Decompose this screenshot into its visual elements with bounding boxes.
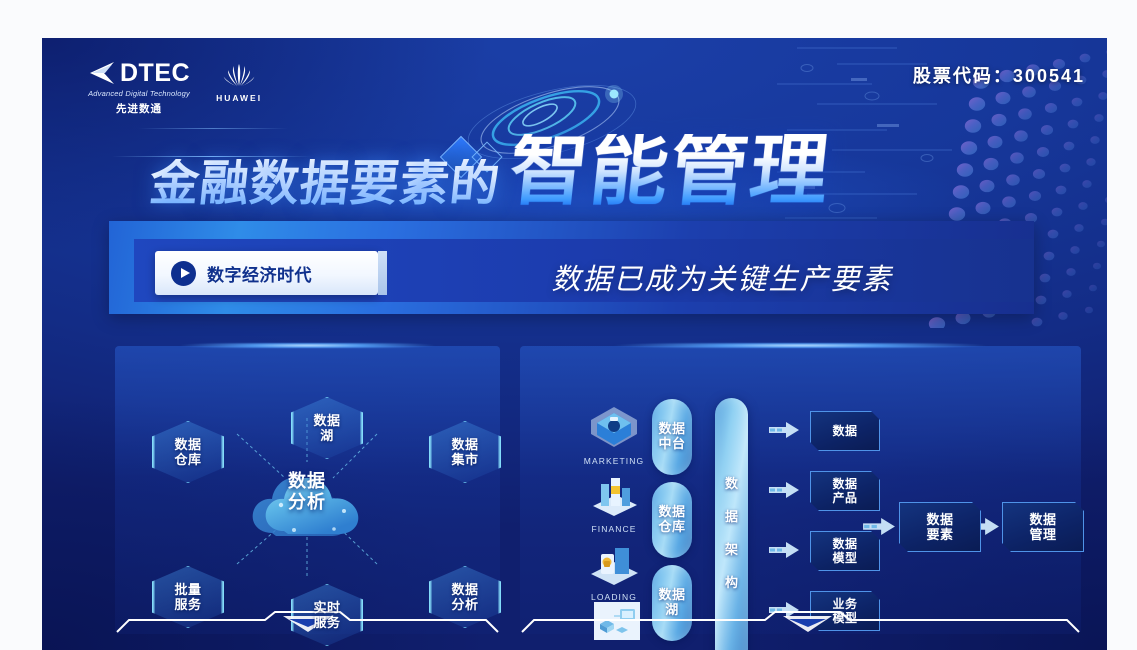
hex-label-line2: 服务: [174, 597, 201, 612]
data-management-line1: 数据: [1029, 512, 1056, 527]
hex-node-data-lake: 数据 湖: [291, 397, 363, 459]
output-box-data: 数据: [810, 411, 880, 451]
data-management-box: 数据 管理: [1002, 502, 1084, 552]
output-box-data-model: 数据模型: [810, 531, 880, 571]
title-lead: 金融数据要素的: [147, 159, 502, 208]
cloud-label: 数据 分析: [248, 471, 366, 512]
dtec-tagline: Advanced Digital Technology: [88, 89, 190, 98]
arch-char-0: 数: [725, 473, 738, 492]
hex-label-line1: 数据: [174, 437, 201, 452]
pill-line1: 数据: [658, 422, 685, 437]
data-management-line2: 管理: [1029, 527, 1056, 542]
output-line1: 数据: [832, 537, 857, 551]
source-label-marketing: MARKETING: [571, 456, 657, 466]
output-box-data-product: 数据产品: [810, 471, 880, 511]
source-label-loading: LOADING: [571, 592, 657, 602]
finance-chart-icon: [585, 472, 643, 518]
data-element-box: 数据 要素: [899, 502, 981, 552]
hex-label-line1: 数据: [313, 413, 340, 428]
dtec-wordmark: DTEC: [120, 61, 190, 86]
presentation-slide: DTEC Advanced Digital Technology 先进数通: [42, 38, 1107, 650]
dtec-chinese-name: 先进数通: [116, 101, 162, 116]
pill-line1: 数据: [658, 505, 685, 520]
panel-top-glow-right: [565, 343, 1036, 348]
dtec-logo: DTEC Advanced Digital Technology 先进数通: [88, 60, 190, 116]
cloud-label-line1: 数据: [248, 471, 366, 492]
cloud-label-line2: 分析: [248, 492, 366, 513]
hex-label-line2: 集市: [451, 452, 478, 467]
output-line2: 产品: [832, 491, 857, 505]
title-emphasis: 智能管理: [506, 134, 834, 208]
logo-group: DTEC Advanced Digital Technology 先进数通: [88, 60, 262, 116]
hex-label-line1: 数据: [451, 437, 478, 452]
arrow-to-data-product: [769, 482, 799, 498]
arrow-to-data: [769, 422, 799, 438]
output-line1: 业务: [832, 597, 857, 611]
arch-char-1: 据: [725, 506, 738, 525]
era-badge-label: 数字经济时代: [207, 261, 312, 286]
era-badge[interactable]: 数字经济时代: [155, 251, 378, 295]
pill-line1: 数据: [658, 588, 685, 603]
stock-code: 股票代码：300541: [913, 62, 1085, 88]
huawei-wordmark: HUAWEI: [216, 93, 262, 103]
output-line1: 数据: [832, 424, 857, 438]
subtitle-headline: 数据已成为关键生产要素: [442, 256, 1002, 298]
pill-line2: 中台: [658, 437, 685, 452]
platform-pill-data-warehouse: 数据 仓库: [652, 482, 692, 558]
huawei-logo: HUAWEI: [216, 62, 262, 103]
output-line2: 模型: [832, 551, 857, 565]
data-element-line2: 要素: [926, 527, 953, 542]
data-element-line1: 数据: [926, 512, 953, 527]
hex-label-line1: 数据: [451, 582, 478, 597]
right-panel-chevron: [520, 610, 1081, 636]
hex-node-data-warehouse: 数据 仓库: [152, 421, 224, 483]
dtec-arrow-icon: [88, 60, 118, 86]
huawei-flower-icon: [221, 62, 257, 90]
hex-node-data-mart: 数据 集市: [429, 421, 501, 483]
hex-label-line2: 服务: [313, 615, 340, 630]
hex-label-line2: 湖: [320, 428, 334, 443]
source-label-finance: FINANCE: [571, 524, 657, 534]
hex-label-line1: 实时: [313, 600, 340, 615]
left-panel-chevron: [115, 610, 500, 636]
hex-label-line2: 分析: [451, 597, 478, 612]
arch-char-3: 构: [725, 572, 738, 591]
decor-line-2: [138, 128, 288, 129]
loading-server-icon: [585, 540, 643, 586]
platform-pill-data-middle-platform: 数据 中台: [652, 399, 692, 475]
arrow-to-data-model: [769, 542, 799, 558]
marketing-cube-icon: [585, 404, 643, 450]
play-icon: [171, 261, 196, 286]
page-title: 金融数据要素的 智能管理: [150, 134, 830, 208]
output-line1: 数据: [832, 477, 857, 491]
slide-canvas: DTEC Advanced Digital Technology 先进数通: [0, 0, 1137, 650]
arch-char-2: 架: [725, 539, 738, 558]
pill-line2: 仓库: [658, 520, 685, 535]
hex-label-line1: 批量: [174, 582, 201, 597]
hex-label-line2: 仓库: [174, 452, 201, 467]
